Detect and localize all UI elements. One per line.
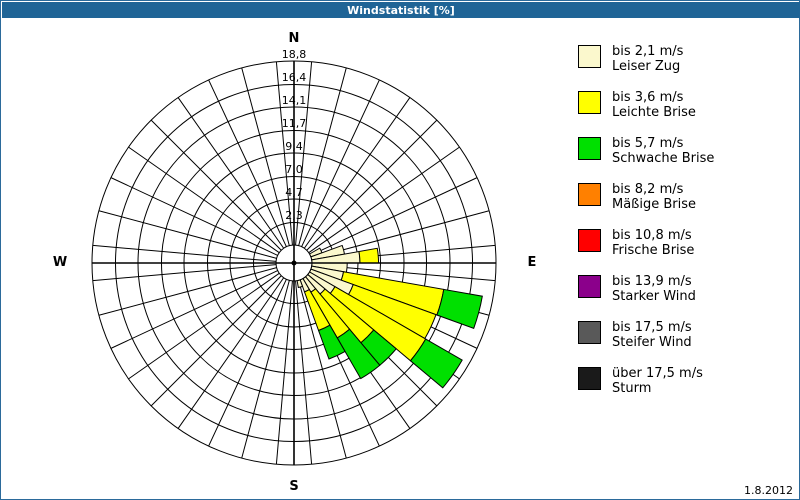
legend-color-swatch [578, 321, 601, 344]
grid-spoke [307, 120, 437, 250]
legend-label-name: Schwache Brise [612, 151, 714, 166]
wind-sector-segment [359, 248, 379, 263]
grid-spoke [99, 211, 277, 259]
radial-tick-label: 14,1 [274, 94, 314, 107]
legend-label: bis 5,7 m/sSchwache Brise [612, 136, 714, 166]
legend-label-speed: bis 2,1 m/s [612, 44, 683, 59]
grid-spoke [151, 276, 281, 406]
legend-label-speed: bis 3,6 m/s [612, 90, 683, 105]
legend-color-swatch [578, 91, 601, 114]
legend-color-swatch [578, 229, 601, 252]
legend-label: bis 2,1 m/sLeiser Zug [612, 44, 683, 74]
grid-spoke [242, 280, 290, 458]
legend-label-name: Sturm [612, 381, 703, 396]
radial-tick-label: 11,7 [274, 117, 314, 130]
legend-label-name: Steifer Wind [612, 335, 692, 350]
radial-tick-label: 2,3 [274, 209, 314, 222]
grid-spoke [151, 120, 281, 250]
legend-item[interactable]: bis 8,2 m/sMäßige Brise [578, 182, 696, 212]
radial-tick-label: 4,7 [274, 186, 314, 199]
chart-window: Windstatistik [%] N E S W 2,34,77,09,411… [0, 0, 800, 500]
legend-label: bis 8,2 m/sMäßige Brise [612, 182, 696, 212]
legend-color-swatch [578, 183, 601, 206]
window-title-bar: Windstatistik [%] [2, 2, 800, 18]
wind-sector-segment [437, 289, 482, 328]
polar-center-dot [292, 261, 297, 266]
legend-label-name: Frische Brise [612, 243, 694, 258]
legend-label-speed: bis 17,5 m/s [612, 320, 692, 335]
grid-spoke [99, 268, 277, 316]
wind-rose-plot: N E S W 2,34,77,09,411,714,116,418,8 [2, 18, 562, 499]
legend-item[interactable]: über 17,5 m/sSturm [578, 366, 703, 396]
legend-label-speed: über 17,5 m/s [612, 366, 703, 381]
legend-label-name: Mäßige Brise [612, 197, 696, 212]
legend-item[interactable]: bis 13,9 m/sStarker Wind [578, 274, 696, 304]
legend-item[interactable]: bis 17,5 m/sSteifer Wind [578, 320, 692, 350]
grid-spoke [111, 178, 278, 256]
legend-label: bis 13,9 m/sStarker Wind [612, 274, 696, 304]
legend-color-swatch [578, 275, 601, 298]
grid-spoke [111, 271, 278, 349]
legend-label: bis 10,8 m/sFrische Brise [612, 228, 694, 258]
legend-label-name: Starker Wind [612, 289, 696, 304]
radial-tick-label: 9,4 [274, 140, 314, 153]
legend-label-speed: bis 10,8 m/s [612, 228, 692, 243]
date-stamp: 1.8.2012 [744, 484, 793, 497]
compass-label-north: N [274, 31, 314, 46]
legend-label-name: Leiser Zug [612, 59, 683, 74]
window-title: Windstatistik [%] [347, 4, 455, 17]
legend-item[interactable]: bis 2,1 m/sLeiser Zug [578, 44, 683, 74]
legend-label: über 17,5 m/sSturm [612, 366, 703, 396]
legend-item[interactable]: bis 10,8 m/sFrische Brise [578, 228, 694, 258]
legend-label-speed: bis 5,7 m/s [612, 136, 683, 151]
compass-label-south: S [274, 479, 314, 494]
legend-color-swatch [578, 137, 601, 160]
radial-tick-label: 18,8 [274, 48, 314, 61]
grid-spoke [310, 178, 477, 256]
legend-item[interactable]: bis 5,7 m/sSchwache Brise [578, 136, 714, 166]
legend-label-speed: bis 8,2 m/s [612, 182, 683, 197]
radial-tick-label: 16,4 [274, 71, 314, 84]
legend-item[interactable]: bis 3,6 m/sLeichte Brise [578, 90, 696, 120]
legend-label-speed: bis 13,9 m/s [612, 274, 692, 289]
compass-label-east: E [512, 255, 552, 270]
legend-color-swatch [578, 45, 601, 68]
grid-spoke [209, 279, 287, 446]
legend: bis 2,1 m/sLeiser Zugbis 3,6 m/sLeichte … [563, 18, 799, 499]
legend-label: bis 3,6 m/sLeichte Brise [612, 90, 696, 120]
legend-label-name: Leichte Brise [612, 105, 696, 120]
legend-color-swatch [578, 367, 601, 390]
wind-rose-sectors [297, 245, 482, 387]
legend-label: bis 17,5 m/sSteifer Wind [612, 320, 692, 350]
compass-label-west: W [40, 255, 80, 270]
radial-tick-label: 7,0 [274, 163, 314, 176]
wind-rose-svg [2, 18, 562, 499]
